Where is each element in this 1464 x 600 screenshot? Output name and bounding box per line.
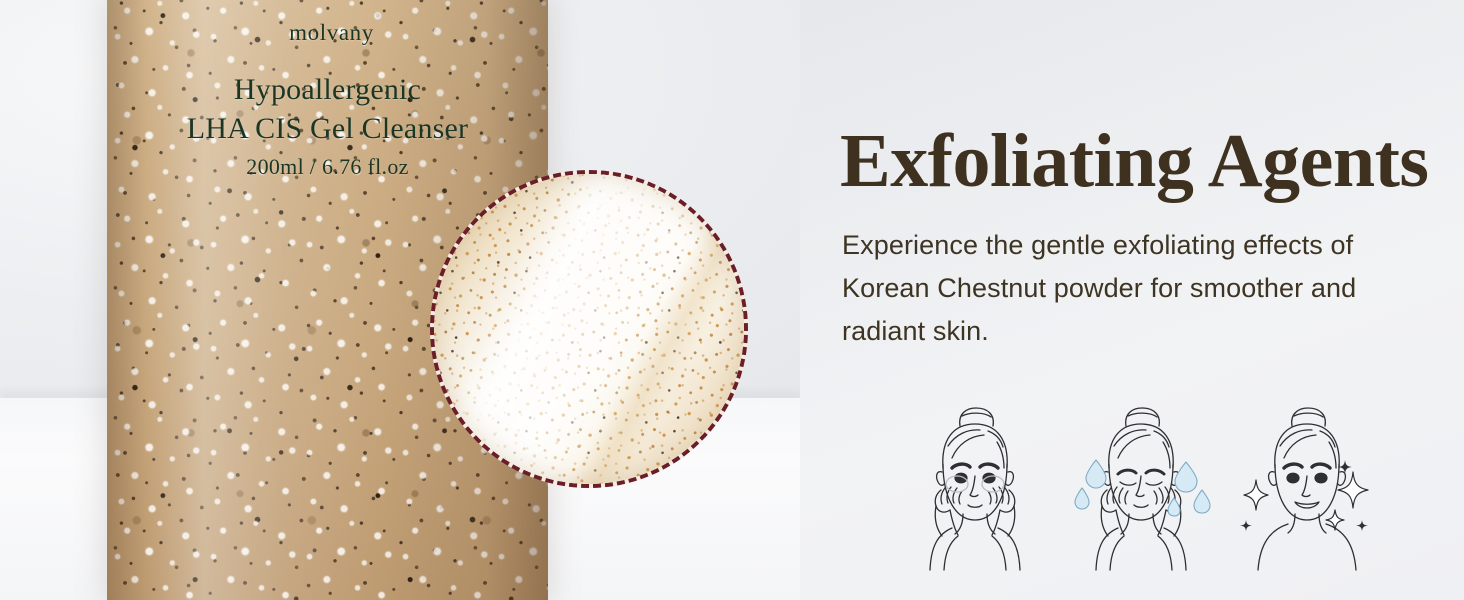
- texture-closeup-circle: [430, 170, 748, 488]
- page-title: Exfoliating Agents: [840, 118, 1429, 204]
- face-rinse-water-icon: [1066, 402, 1216, 572]
- product-banner: molvany Hypoallergenic LHA CIS Gel Clean…: [0, 0, 1464, 600]
- content-pane: Exfoliating Agents Experience the gentle…: [840, 0, 1464, 600]
- step-face-rinse: [1066, 402, 1216, 572]
- product-label: molvany Hypoallergenic LHA CIS Gel Clean…: [107, 20, 548, 180]
- face-glow-sparkle-icon: [1232, 402, 1382, 572]
- step-face-massage: [900, 402, 1050, 572]
- usage-steps: [900, 402, 1382, 572]
- description-text: Experience the gentle exfoliating effect…: [842, 224, 1432, 353]
- inset-inner-shadow: [434, 174, 744, 484]
- step-face-glow: [1232, 402, 1382, 572]
- product-name-line1: Hypoallergenic: [107, 73, 548, 107]
- brand-name: molvany: [115, 20, 548, 46]
- product-name-line2: LHA CIS Gel Cleanser: [107, 112, 548, 146]
- face-massage-icon: [900, 402, 1050, 572]
- product-photo-pane: molvany Hypoallergenic LHA CIS Gel Clean…: [0, 0, 800, 600]
